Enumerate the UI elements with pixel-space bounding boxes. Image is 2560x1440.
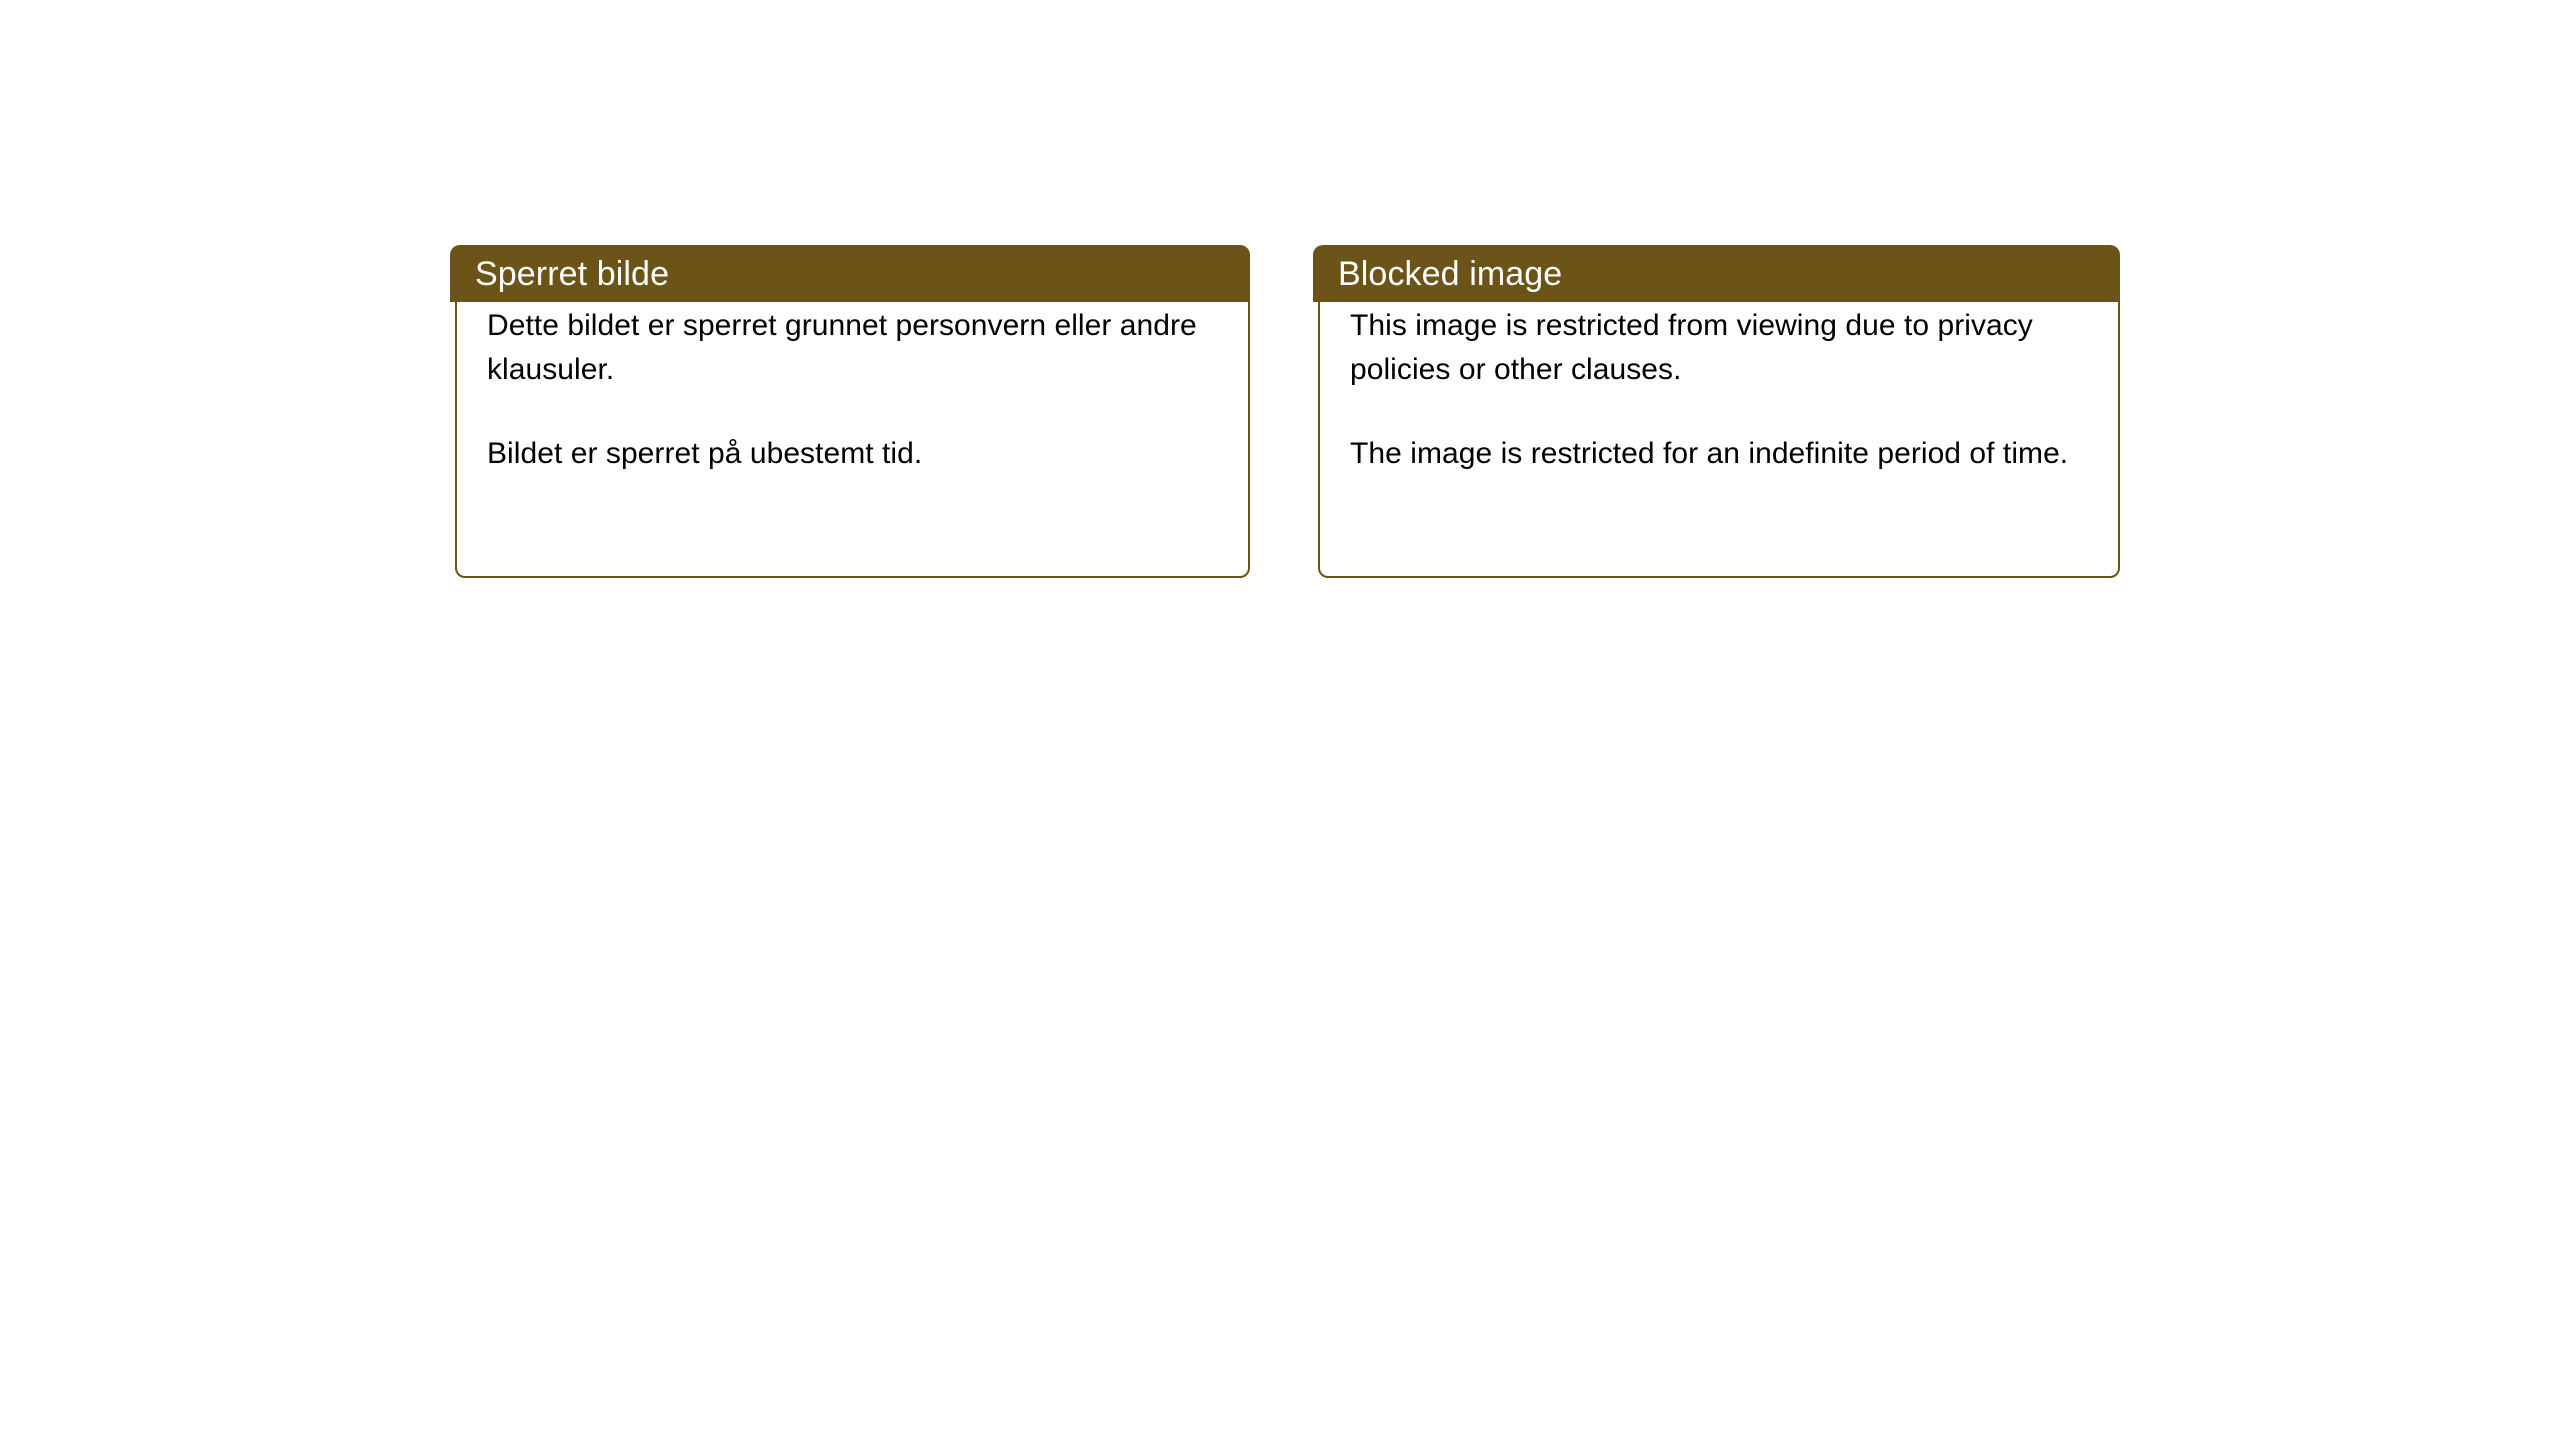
page-canvas: Dette bildet er sperret grunnet personve… [0, 0, 2560, 1440]
notice-header-no: Sperret bilde [450, 245, 1250, 302]
notice-paragraph: Dette bildet er sperret grunnet personve… [487, 304, 1226, 392]
blocked-image-notice-en: This image is restricted from viewing du… [1313, 245, 2120, 578]
notice-body-text-no: Dette bildet er sperret grunnet personve… [457, 304, 1248, 476]
notice-paragraph: Bildet er sperret på ubestemt tid. [487, 432, 1226, 476]
notice-title-no: Sperret bilde [450, 255, 669, 293]
notice-body-text-en: This image is restricted from viewing du… [1320, 304, 2118, 476]
notice-header-en: Blocked image [1313, 245, 2120, 302]
notice-paragraph: The image is restricted for an indefinit… [1350, 432, 2096, 476]
notice-title-en: Blocked image [1313, 255, 1562, 293]
notice-paragraph: This image is restricted from viewing du… [1350, 304, 2096, 392]
blocked-image-notice-no: Dette bildet er sperret grunnet personve… [450, 245, 1250, 578]
